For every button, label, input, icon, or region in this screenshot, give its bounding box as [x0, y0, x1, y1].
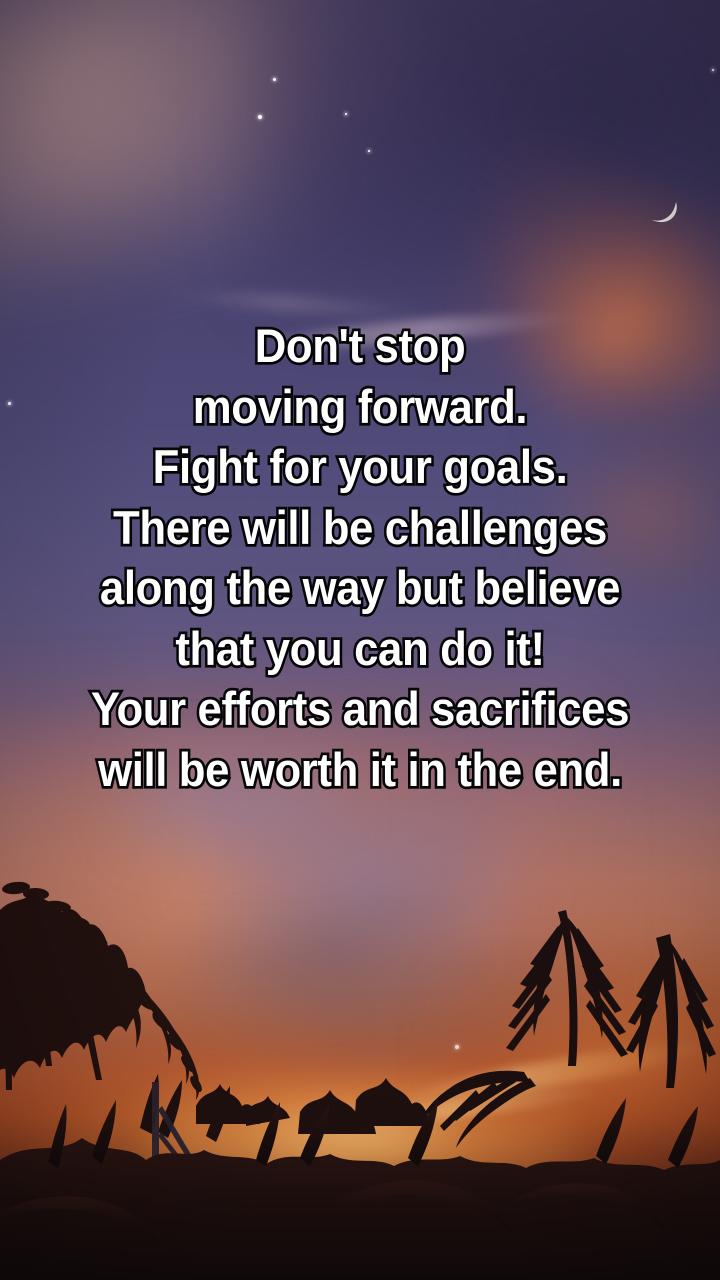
quote-line: will be worth it in the end. — [25, 740, 695, 801]
star-icon — [368, 150, 370, 152]
quote-line: moving forward. — [25, 377, 695, 438]
star-icon — [345, 113, 347, 115]
quote-line: that you can do it! — [25, 619, 695, 680]
quote-line: There will be challenges — [25, 498, 695, 559]
palm-tree-silhouette — [418, 910, 716, 1148]
quote-text-block: Don't stop moving forward. Fight for you… — [25, 316, 695, 800]
quote-line: along the way but believe — [25, 558, 695, 619]
foreground-silhouette — [0, 860, 720, 1280]
crescent-moon-icon — [648, 200, 682, 230]
star-icon — [8, 402, 11, 405]
quote-wallpaper: Don't stop moving forward. Fight for you… — [0, 0, 720, 1280]
quote-line: Don't stop — [25, 316, 695, 377]
quote-line: Your efforts and sacrifices — [25, 679, 695, 740]
quote-line: Fight for your goals. — [25, 437, 695, 498]
willow-tree-silhouette — [0, 881, 204, 1100]
star-icon — [273, 78, 276, 81]
star-icon — [712, 69, 714, 71]
star-icon — [258, 115, 262, 119]
mid-shrub-silhouette — [140, 1074, 430, 1142]
